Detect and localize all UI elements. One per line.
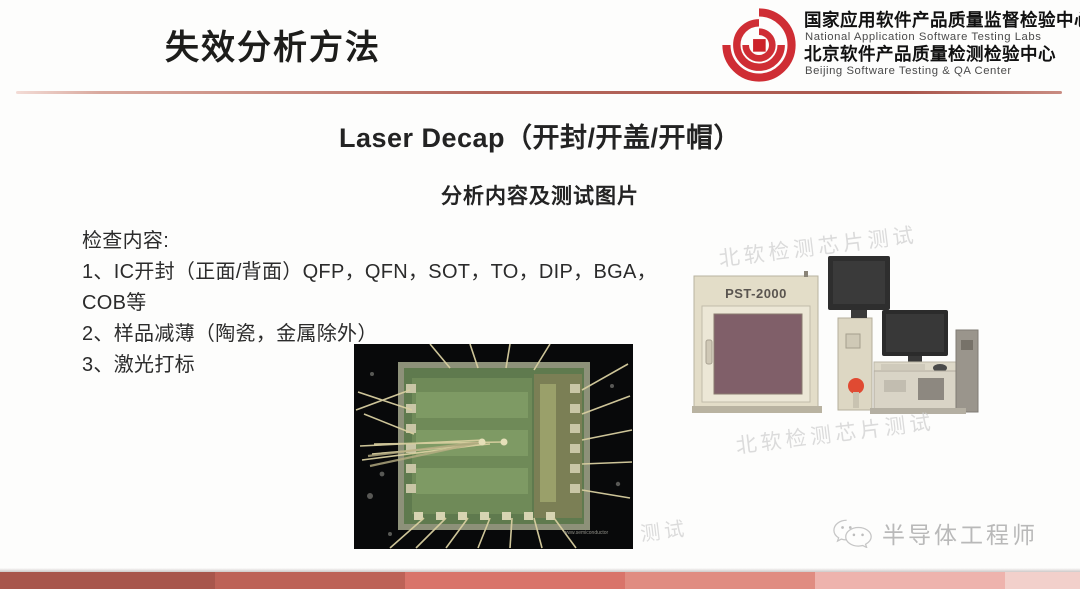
wechat-account-badge: 半导体工程师 xyxy=(833,516,1038,550)
bottom-bar-segment xyxy=(815,572,1005,589)
bottom-bar-segment xyxy=(405,572,625,589)
wechat-icon xyxy=(833,518,873,548)
svg-text:www.semiconductor: www.semiconductor xyxy=(564,530,609,536)
org-name-cn-secondary: 北京软件产品质量检测检验中心 xyxy=(804,45,1080,64)
organization-logo-text: 国家应用软件产品质量监督检验中心 National Application So… xyxy=(804,11,1080,79)
org-name-en-secondary: Beijing Software Testing & QA Center xyxy=(805,65,1080,77)
organization-logo: 国家应用软件产品质量监督检验中心 National Application So… xyxy=(722,6,1072,84)
list-item: 1、IC开封（正面/背面）QFP，QFN，SOT，TO，DIP，BGA，COB等 xyxy=(82,257,662,319)
bottom-bar-segment xyxy=(0,572,215,589)
decapped-ic-die-photo: www.semiconductor xyxy=(354,344,633,549)
slide-canvas: 失效分析方法 国家应用软件产品质量监督检验中心 National Applica… xyxy=(0,0,1080,589)
svg-text:PST-2000: PST-2000 xyxy=(725,286,787,301)
watermark-text-chip: 测试 xyxy=(638,512,689,547)
header-divider xyxy=(16,91,1062,94)
content-intro: 检查内容: xyxy=(82,226,662,257)
bottom-bar-segment xyxy=(1005,572,1080,589)
org-name-cn-primary: 国家应用软件产品质量监督检验中心 xyxy=(804,11,1080,30)
bottom-bar-segment xyxy=(215,572,405,589)
spiral-logo-icon xyxy=(722,8,796,82)
laser-decap-machine-photo: PST-2000 xyxy=(678,240,998,426)
wechat-account-name: 半导体工程师 xyxy=(882,516,1038,550)
org-name-en-primary: National Application Software Testing La… xyxy=(805,31,1080,43)
section-subheading: 分析内容及测试图片 xyxy=(0,180,1080,210)
page-title: 失效分析方法 xyxy=(165,20,381,69)
section-heading: Laser Decap（开封/开盖/开帽） xyxy=(0,116,1080,155)
bottom-color-bar xyxy=(0,572,1080,589)
bottom-bar-segment xyxy=(625,572,815,589)
